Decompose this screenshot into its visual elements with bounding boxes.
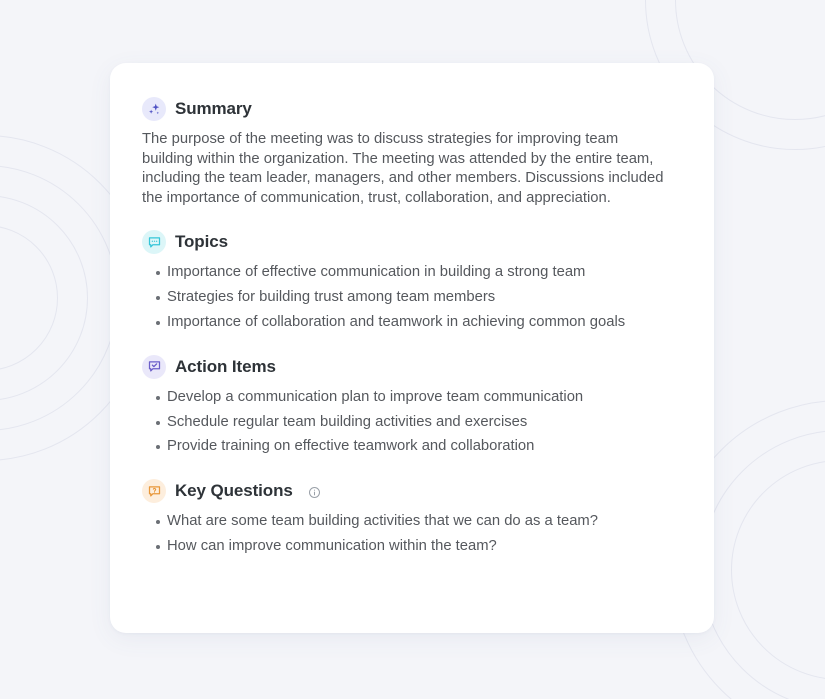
bg-ring-right-inner bbox=[731, 460, 825, 680]
sparkle-icon bbox=[142, 97, 166, 121]
action-items-list: Develop a communication plan to improve … bbox=[142, 388, 682, 457]
speech-bubble-check-icon bbox=[142, 355, 166, 379]
speech-bubble-question-icon bbox=[142, 479, 166, 503]
section-key-questions-header: Key Questions bbox=[142, 479, 682, 503]
section-summary-title: Summary bbox=[175, 99, 252, 119]
info-circle-icon[interactable] bbox=[308, 486, 321, 499]
section-topics-title: Topics bbox=[175, 232, 228, 252]
bg-ring-left-inner bbox=[0, 195, 88, 401]
section-action-items-header: Action Items bbox=[142, 355, 682, 379]
section-key-questions-title: Key Questions bbox=[175, 481, 293, 501]
section-summary-header: Summary bbox=[142, 97, 682, 121]
section-topics-header: Topics bbox=[142, 230, 682, 254]
topics-list: Importance of effective communication in… bbox=[142, 263, 682, 332]
bg-ring-right-mid bbox=[701, 430, 825, 699]
meeting-summary-card: Summary The purpose of the meeting was t… bbox=[110, 63, 714, 633]
section-key-questions: Key Questions What are some team buildin… bbox=[142, 479, 682, 557]
list-item: Importance of collaboration and teamwork… bbox=[142, 313, 677, 333]
section-topics: Topics Importance of effective communica… bbox=[142, 230, 682, 332]
list-item: Importance of effective communication in… bbox=[142, 263, 677, 283]
bg-ring-left-core bbox=[0, 225, 58, 371]
section-summary: Summary The purpose of the meeting was t… bbox=[142, 97, 682, 208]
summary-paragraph: The purpose of the meeting was to discus… bbox=[142, 130, 664, 208]
key-questions-list: What are some team building activities t… bbox=[142, 512, 682, 557]
bg-ring-left-mid bbox=[0, 165, 118, 431]
list-item: What are some team building activities t… bbox=[142, 512, 677, 532]
list-item: Develop a communication plan to improve … bbox=[142, 388, 677, 408]
list-item: Provide training on effective teamwork a… bbox=[142, 437, 677, 457]
section-action-items-title: Action Items bbox=[175, 357, 276, 377]
list-item: Strategies for building trust among team… bbox=[142, 288, 677, 308]
speech-bubble-dots-icon bbox=[142, 230, 166, 254]
section-action-items: Action Items Develop a communication pla… bbox=[142, 355, 682, 457]
list-item: Schedule regular team building activitie… bbox=[142, 413, 677, 433]
list-item: How can improve communication within the… bbox=[142, 537, 677, 557]
